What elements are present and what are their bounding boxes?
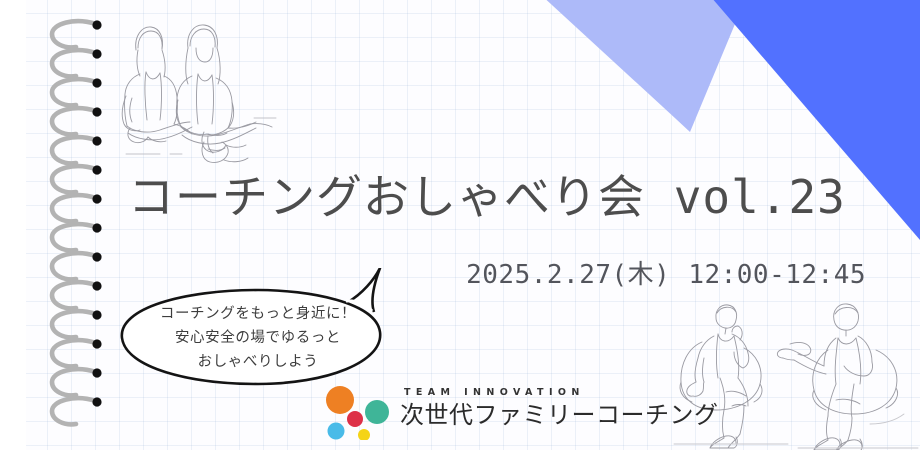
logo-text-block: TEAM INNOVATION 次世代ファミリーコーチング	[400, 386, 690, 430]
logo-dot-orange	[326, 386, 354, 414]
logo-dot-yellow	[358, 429, 370, 440]
spiral-ring-group	[52, 20, 102, 424]
logo-dot-green	[365, 400, 389, 424]
event-time: 12:00-12:45	[688, 260, 866, 290]
spiral-binding	[46, 14, 116, 434]
page-title: コーチングおしゃべり会 vol.23	[128, 168, 888, 226]
event-date: 2025.2.27(木)	[466, 260, 670, 290]
spiral-rings-svg	[46, 14, 116, 434]
bubble-line-3: おしゃべりしよう	[132, 350, 384, 374]
bubble-line-2: 安心安全の場でゆるっと	[132, 326, 384, 350]
speech-bubble-text: コーチングをもっと身近に！ 安心安全の場でゆるっと おしゃべりしよう	[132, 302, 384, 374]
paper-left-margin	[0, 0, 26, 450]
bubble-line-1: コーチングをもっと身近に！	[132, 302, 384, 326]
illustration-two-people-sitting	[108, 14, 288, 166]
speech-bubble: コーチングをもっと身近に！ 安心安全の場でゆるっと おしゃべりしよう	[112, 268, 404, 396]
brand-logo: TEAM INNOVATION 次世代ファミリーコーチング	[314, 386, 684, 442]
logo-dot-red	[347, 411, 363, 427]
logo-dot-cyan	[328, 423, 345, 440]
poster-canvas: コーチングおしゃべり会 vol.23 2025.2.27(木)12:00-12:…	[0, 0, 920, 450]
logo-dots-icon	[314, 386, 406, 440]
logo-eyebrow: TEAM INNOVATION	[400, 386, 690, 400]
logo-name: 次世代ファミリーコーチング	[400, 400, 690, 430]
